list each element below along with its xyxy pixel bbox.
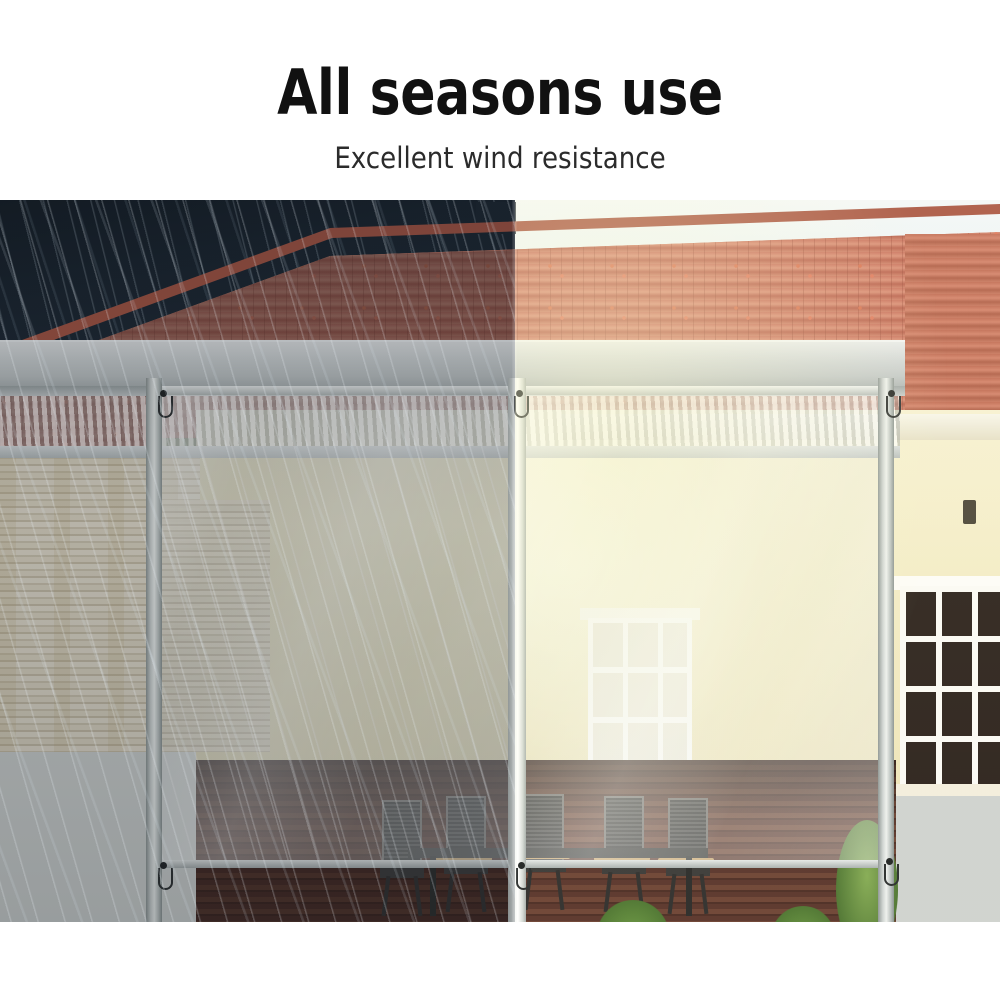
chair-leg bbox=[700, 874, 709, 914]
product-photo: * Note: Only prevent level 1-2 wind. bbox=[0, 200, 1000, 922]
header-banner: All seasons use Excellent wind resistanc… bbox=[0, 0, 1000, 200]
blind-housing-cassette bbox=[0, 340, 905, 388]
chair-leg bbox=[446, 872, 455, 912]
tie-down-hook-icon bbox=[158, 868, 173, 890]
side-screen-panel bbox=[152, 386, 516, 867]
french-door bbox=[900, 586, 978, 790]
chair-leg bbox=[382, 876, 391, 916]
hook-anchor-icon bbox=[518, 862, 525, 869]
tie-down-hook-icon bbox=[514, 396, 529, 418]
door-panes bbox=[978, 592, 1000, 784]
french-door bbox=[972, 586, 1000, 790]
pergola-post bbox=[878, 378, 894, 922]
pergola-post bbox=[146, 378, 162, 922]
page-title: All seasons use bbox=[80, 62, 920, 124]
tie-down-hook-icon bbox=[516, 868, 531, 890]
hook-anchor-icon bbox=[160, 862, 167, 869]
hook-anchor-icon bbox=[888, 390, 895, 397]
tie-down-hook-icon bbox=[158, 396, 173, 418]
wall-lamp bbox=[963, 500, 976, 524]
side-screen-panel bbox=[520, 386, 886, 867]
screen-sheen bbox=[520, 389, 886, 867]
hook-anchor-icon bbox=[516, 390, 523, 397]
chair-leg bbox=[478, 872, 487, 912]
page-subtitle: Excellent wind resistance bbox=[50, 142, 950, 174]
chair-leg bbox=[668, 874, 677, 914]
chair-leg bbox=[556, 870, 565, 910]
door-panes bbox=[906, 592, 972, 784]
screen-rain-streaks bbox=[152, 389, 516, 867]
tie-down-hook-icon bbox=[884, 864, 899, 886]
door-sill bbox=[888, 784, 1000, 796]
hook-anchor-icon bbox=[886, 858, 893, 865]
tie-down-hook-icon bbox=[886, 396, 901, 418]
chair-leg bbox=[414, 876, 423, 916]
hook-anchor-icon bbox=[160, 390, 167, 397]
pergola-post bbox=[508, 378, 526, 922]
